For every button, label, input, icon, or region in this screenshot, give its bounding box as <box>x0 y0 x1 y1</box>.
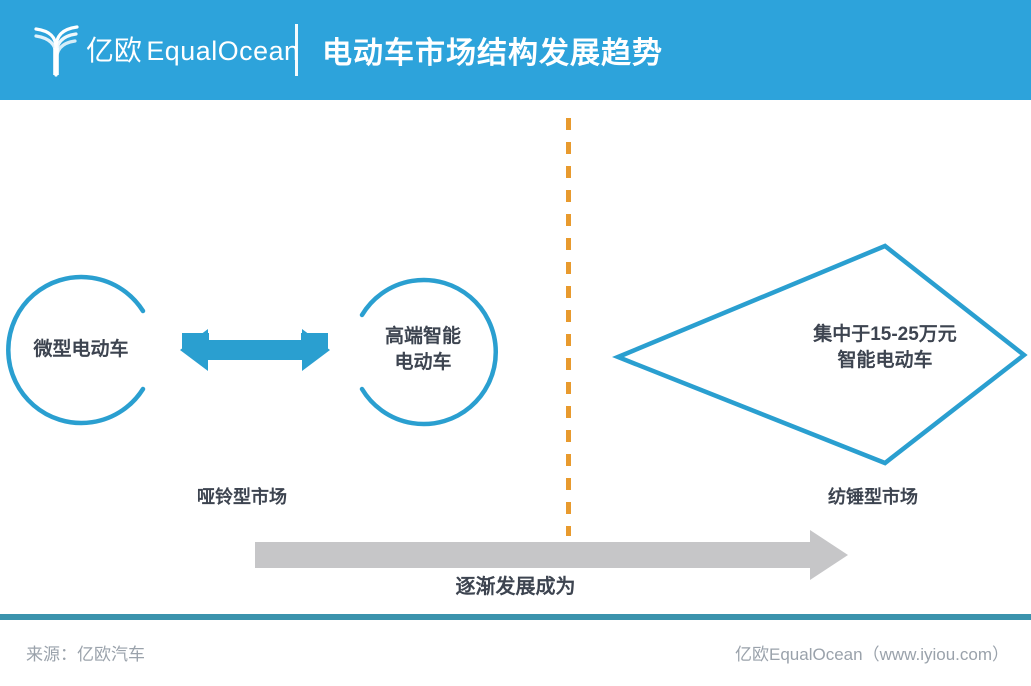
page-title: 电动车市场结构发展趋势 <box>322 28 663 72</box>
attribution-text: 亿欧EqualOcean（www.iyiou.com） <box>735 640 1009 665</box>
brand-wordmark: 亿欧 EqualOcean <box>86 31 310 69</box>
infographic-page: 亿欧 EqualOcean 电动车市场结构发展趋势 <box>0 0 1031 686</box>
circle-premium-ev-label: 高端智能 电动车 <box>352 324 494 375</box>
market-label-spindle: 纺锤型市场 <box>828 483 918 509</box>
diamond-spindle-label: 集中于15-25万元 智能电动车 <box>700 322 1031 373</box>
brand-logo: 亿欧 EqualOcean <box>28 22 278 78</box>
arrow-shaft <box>203 340 307 360</box>
flow-arrow-caption: 逐渐发展成为 <box>0 570 1031 599</box>
diagram-canvas: 微型电动车 高端智能 电动车 集中于15-25万元 智能电动车 哑铃型市场 纺锤… <box>0 100 1031 612</box>
source-text: 来源：亿欧汽车 <box>26 640 145 665</box>
header-divider <box>295 24 298 76</box>
page-footer: 来源：亿欧汽车 亿欧EqualOcean（www.iyiou.com） <box>0 620 1031 686</box>
market-label-dumbbell: 哑铃型市场 <box>197 483 287 509</box>
svg-text:EqualOcean: EqualOcean <box>146 36 299 66</box>
circle-micro-ev-label: 微型电动车 <box>8 337 154 363</box>
yiou-y-mark-icon <box>28 22 84 78</box>
orange-dashed-divider <box>566 118 571 536</box>
page-header: 亿欧 EqualOcean 电动车市场结构发展趋势 <box>0 0 1031 100</box>
svg-text:亿欧: 亿欧 <box>86 35 142 66</box>
